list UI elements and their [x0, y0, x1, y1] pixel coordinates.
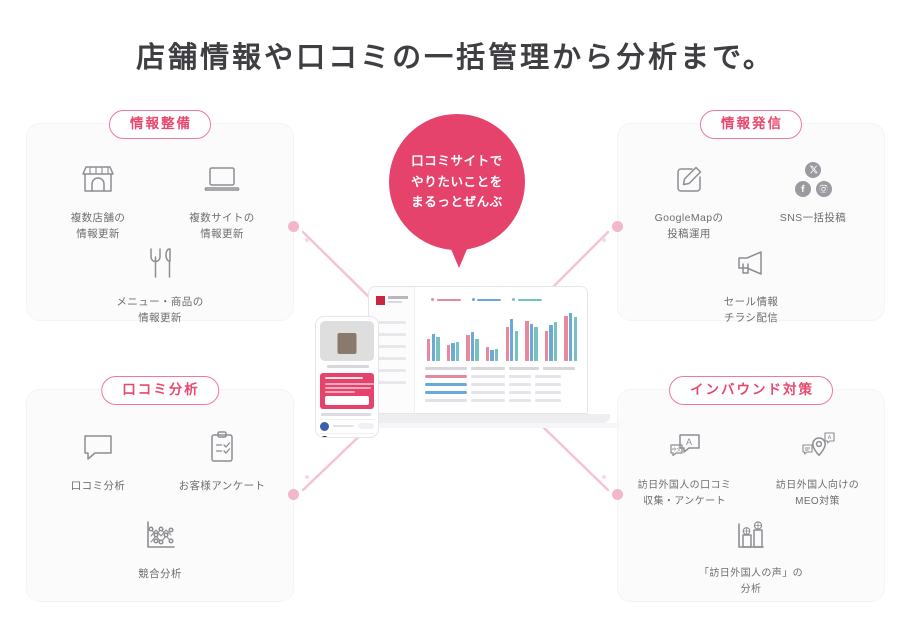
sidebar-nav-item[interactable]: [376, 381, 406, 384]
legend-item: [472, 298, 502, 301]
badge-information-maintenance: 情報整備: [109, 110, 211, 139]
chart-legend: [431, 298, 542, 301]
phone-secondary-button[interactable]: [346, 396, 369, 405]
connector-dot: [612, 489, 623, 500]
feature-label: 訪日外国人の口コミ 収集・アンケート: [638, 478, 732, 509]
feature-label: メニュー・商品の 情報更新: [116, 294, 203, 327]
bar: [569, 313, 572, 361]
feature-competitor-analysis[interactable]: 競合分析: [98, 512, 222, 582]
page-title: 店舗情報や口コミの一括管理から分析まで。: [0, 34, 911, 76]
legend-swatch: [472, 298, 475, 301]
feature-sale-flyer-delivery[interactable]: セール情報 チラシ配信: [689, 240, 813, 327]
feature-multi-site-update[interactable]: 複数サイトの 情報更新: [160, 156, 284, 243]
feature-customer-survey[interactable]: お客様アンケート: [160, 424, 284, 494]
feature-label: セール情報 チラシ配信: [724, 294, 779, 327]
bar-group: [447, 342, 460, 361]
legend-label: [518, 299, 542, 301]
phone-promo-card: [320, 373, 374, 409]
table-header-row: [425, 367, 579, 370]
translate-bubble-icon: A 中文: [667, 424, 703, 470]
feature-foreign-voice-analysis[interactable]: 「訪日外国人の声」の 分析: [681, 512, 821, 597]
feature-review-analysis[interactable]: 口コミ分析: [36, 424, 160, 494]
instagram-icon[interactable]: [816, 181, 832, 197]
feature-label: 複数サイトの 情報更新: [189, 210, 254, 243]
bar: [534, 327, 537, 361]
bar: [510, 319, 513, 361]
x-icon[interactable]: [805, 162, 821, 178]
bar: [574, 317, 577, 361]
card-information-delivery: 情報発信 GoogleMapの 投稿運用: [617, 123, 885, 321]
phone-primary-button[interactable]: [325, 396, 348, 405]
bar: [427, 339, 430, 361]
legend-item: [431, 298, 461, 301]
feature-label: お客様アンケート: [179, 478, 266, 494]
laptop-base: [348, 414, 610, 423]
legend-swatch: [512, 298, 515, 301]
facebook-icon[interactable]: [795, 181, 811, 197]
bar-group: [564, 313, 577, 361]
feature-label: 訪日外国人向けの MEO対策: [776, 478, 859, 509]
phone-title-text: [327, 365, 369, 368]
phone-thumbnail: [338, 333, 357, 354]
center-bubble: 口コミサイトで やりたいことを まるっとぜんぶ: [389, 114, 525, 250]
bar-group: [466, 332, 479, 361]
dashboard-main: [415, 287, 587, 413]
phone-mockup: [315, 316, 379, 438]
speech-bubble-icon: [81, 424, 115, 470]
card-inbound-measures: インバウンド対策 A 中文 訪日外国人の口コミ 収集・アンケート: [617, 389, 885, 602]
sidebar-nav-item[interactable]: [376, 369, 406, 372]
bar: [432, 334, 435, 361]
connector-dot: [305, 238, 309, 242]
bar: [515, 331, 518, 361]
card-information-maintenance: 情報整備 複数店舗の 情報更新: [26, 123, 294, 321]
line-chart-icon: [143, 512, 177, 558]
avatar: [320, 436, 329, 439]
sidebar-nav-item[interactable]: [376, 321, 406, 324]
legend-label: [477, 299, 501, 301]
connector-dot: [305, 475, 309, 479]
badge-inbound-measures: インバウンド対策: [669, 376, 833, 405]
phone-list-item[interactable]: [320, 419, 374, 432]
connector-dot: [602, 238, 606, 242]
avatar: [320, 422, 329, 431]
infographic-stage: 店舗情報や口コミの一括管理から分析まで。 情報整備: [0, 0, 911, 643]
phone-hero-image: [320, 321, 374, 361]
bar-group: [525, 321, 538, 361]
bar-group: [545, 322, 558, 361]
center-bubble-text: 口コミサイトで やりたいことを まるっとぜんぶ: [411, 151, 503, 213]
feature-meo-for-foreign-visitors[interactable]: A 訪日外国人向けの MEO対策: [751, 424, 884, 509]
legend-item: [512, 298, 542, 301]
svg-text:A: A: [827, 435, 831, 441]
bar-group: [427, 334, 440, 361]
legend-label: [437, 299, 461, 301]
svg-text:中文: 中文: [671, 446, 681, 453]
legend-swatch: [431, 298, 434, 301]
laptop-screen: [368, 286, 588, 414]
phone-section-label: [321, 413, 371, 416]
bar: [549, 325, 552, 361]
feature-foreign-visitor-reviews[interactable]: A 中文 訪日外国人の口コミ 収集・アンケート: [618, 424, 751, 509]
dashboard-table: [425, 367, 579, 407]
connector-dot: [602, 475, 606, 479]
sidebar-nav-item[interactable]: [376, 333, 406, 336]
bar: [436, 337, 439, 361]
storefront-icon: [81, 156, 115, 202]
feature-label: 口コミ分析: [71, 478, 126, 494]
megaphone-icon: [734, 240, 768, 286]
bar: [495, 349, 498, 361]
bar: [554, 322, 557, 361]
feature-label: 競合分析: [138, 566, 182, 582]
phone-row-action[interactable]: [358, 437, 374, 438]
pencil-square-icon: [674, 156, 704, 202]
brand-tagline: [388, 301, 402, 303]
device-mockup: [310, 278, 610, 443]
badge-review-analysis: 口コミ分析: [101, 376, 219, 405]
table-row: [425, 391, 579, 394]
sidebar-nav-item[interactable]: [376, 345, 406, 348]
bar: [471, 332, 474, 361]
bar: [506, 327, 509, 361]
card-review-analysis: 口コミ分析 口コミ分析: [26, 389, 294, 602]
feature-label: 複数店舗の 情報更新: [71, 210, 126, 243]
bar-chart-globe-icon: [734, 512, 768, 558]
bar: [525, 321, 528, 361]
clipboard-check-icon: [208, 424, 236, 470]
map-pin-translate-icon: A: [800, 424, 836, 470]
bar: [564, 316, 567, 361]
feature-menu-product-update[interactable]: メニュー・商品の 情報更新: [98, 240, 222, 327]
laptop-icon: [204, 156, 240, 202]
badge-information-delivery: 情報発信: [700, 110, 802, 139]
cutlery-icon: [145, 240, 175, 286]
sidebar-nav-item[interactable]: [376, 357, 406, 360]
svg-text:A: A: [685, 437, 691, 447]
bar: [530, 324, 533, 361]
connector-dot: [288, 221, 299, 232]
brand-logo-icon: [376, 296, 385, 305]
feature-label: GoogleMapの 投稿運用: [655, 210, 724, 243]
connector-dot: [612, 221, 623, 232]
brand-wordmark: [388, 296, 408, 299]
feature-sns-bulk-post[interactable]: SNS一括投稿: [751, 156, 875, 243]
table-row: [425, 375, 579, 378]
bar-group: [506, 319, 519, 361]
feature-googlemap-posting[interactable]: GoogleMapの 投稿運用: [627, 156, 751, 243]
feature-label: 「訪日外国人の声」の 分析: [699, 566, 803, 597]
bar: [447, 345, 450, 361]
bar: [475, 339, 478, 361]
table-row: [425, 399, 579, 402]
table-row: [425, 383, 579, 386]
bar: [486, 347, 489, 361]
dashboard-bar-chart: [427, 311, 577, 361]
phone-list-item[interactable]: [320, 433, 374, 438]
bar: [545, 331, 548, 361]
bar: [466, 335, 469, 361]
bar-group: [486, 347, 499, 361]
bar: [490, 350, 493, 361]
feature-label: SNS一括投稿: [780, 210, 846, 226]
feature-multi-store-update[interactable]: 複数店舗の 情報更新: [36, 156, 160, 243]
bar: [451, 343, 454, 361]
phone-row-action[interactable]: [358, 423, 374, 429]
connector-dot: [288, 489, 299, 500]
bar: [456, 342, 459, 361]
social-icons: [795, 156, 832, 202]
